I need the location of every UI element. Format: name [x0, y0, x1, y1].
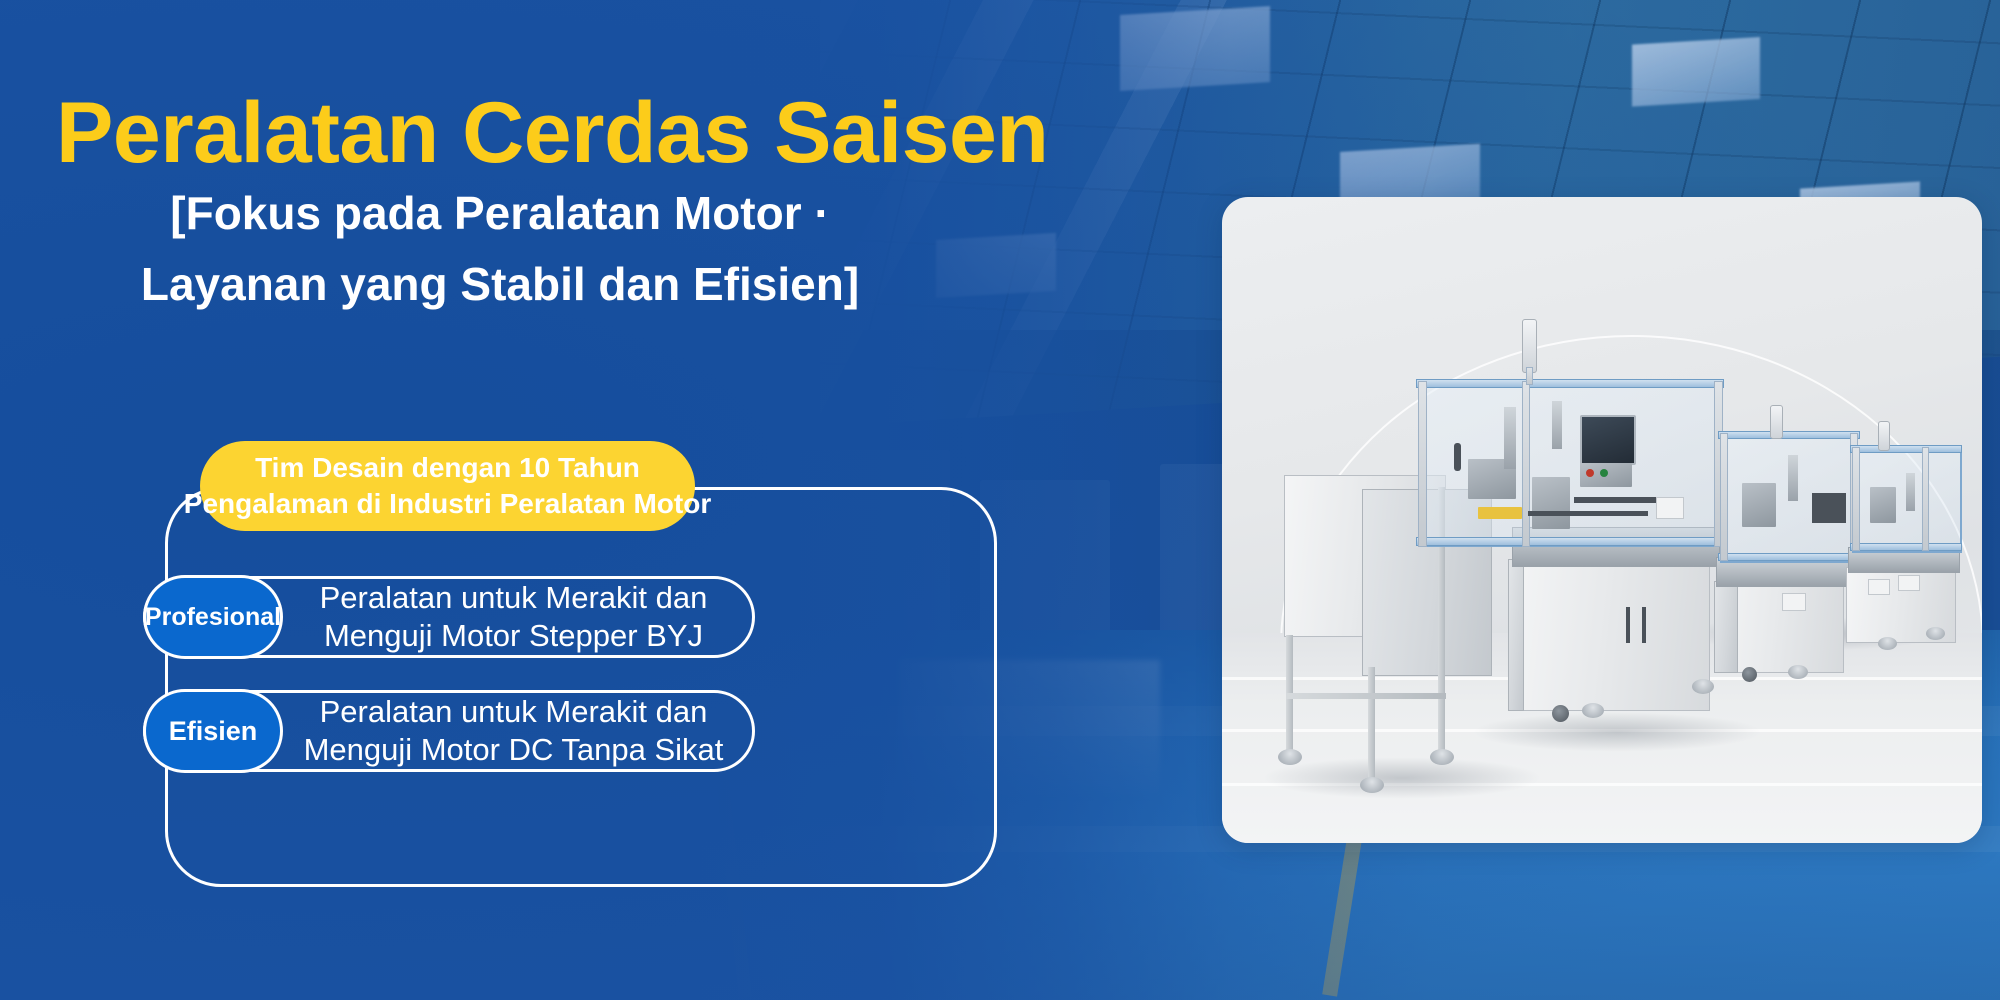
station1-post: [1418, 381, 1427, 547]
feature-text-line-1: Peralatan untuk Merakit dan: [289, 693, 738, 731]
leveling-foot: [1788, 665, 1808, 679]
pneumatic-cylinder: [1788, 455, 1798, 501]
internal-module: [1742, 483, 1776, 527]
cabinet-handle: [1642, 607, 1646, 643]
feature-text-professional: Peralatan untuk Merakit dan Menguji Moto…: [283, 579, 752, 655]
internal-module: [1870, 487, 1896, 523]
experience-badge: Tim Desain dengan 10 Tahun Pengalaman di…: [200, 441, 695, 531]
page-title: Peralatan Cerdas Saisen: [56, 88, 1056, 179]
leveling-foot: [1582, 703, 1604, 718]
subtitle-line-2: Layanan yang Stabil dan Efisien]: [60, 249, 940, 320]
leveling-foot: [1878, 637, 1897, 650]
station3-top-rail: [1850, 445, 1962, 453]
feature-row-professional[interactable]: Profesional Peralatan untuk Merakit dan …: [143, 576, 755, 658]
signal-beacon: [1770, 405, 1783, 439]
feature-text-line-2: Menguji Motor Stepper BYJ: [289, 617, 738, 655]
station1-bottom-rail: [1416, 537, 1724, 546]
station3-post: [1852, 447, 1860, 551]
copy-column: Peralatan Cerdas Saisen [Fokus pada Pera…: [0, 0, 1080, 1000]
leveling-foot: [1430, 749, 1454, 765]
station1-top-rail: [1416, 379, 1724, 388]
feature-text-line-1: Peralatan untuk Merakit dan: [289, 579, 738, 617]
cabinet-handle: [1626, 607, 1630, 643]
station1-post: [1522, 381, 1530, 547]
feature-tag-efficient: Efisien: [143, 689, 283, 773]
spec-label: [1898, 575, 1920, 591]
guard-door-handle: [1454, 443, 1461, 471]
station2-bottom-rail: [1718, 553, 1860, 561]
station3-bottom-rail: [1850, 543, 1962, 551]
air-hose: [1528, 511, 1648, 516]
internal-module-dark: [1812, 493, 1846, 523]
feature-card: [165, 487, 997, 887]
pneumatic-cylinder: [1504, 407, 1516, 469]
caster-wheel: [1552, 705, 1569, 722]
signal-beacon: [1878, 421, 1890, 451]
caster-wheel: [1742, 667, 1757, 682]
machine-shadow: [1472, 712, 1762, 752]
station2-top-rail: [1718, 431, 1860, 439]
leveling-foot: [1278, 749, 1302, 765]
product-image-panel: [1222, 197, 1982, 843]
machine-shadow: [1262, 757, 1542, 799]
station1-base-cabinet: [1508, 559, 1710, 711]
feature-row-efficient[interactable]: Efisien Peralatan untuk Merakit dan Meng…: [143, 690, 755, 772]
experience-badge-line-2: Pengalaman di Industri Peralatan Motor: [184, 486, 711, 522]
internal-module: [1532, 477, 1570, 529]
station3-post: [1922, 447, 1929, 551]
station2-post: [1720, 433, 1728, 561]
feature-text-line-2: Menguji Motor DC Tanpa Sikat: [289, 731, 738, 769]
beacon-mast: [1526, 367, 1533, 385]
hmi-display: [1580, 415, 1636, 465]
spec-label: [1656, 497, 1684, 519]
leveling-foot: [1360, 777, 1384, 793]
indicator-light-green: [1600, 469, 1608, 477]
trolley-crossbar: [1286, 693, 1446, 699]
subtitle: [Fokus pada Peralatan Motor · Layanan ya…: [60, 178, 940, 321]
indicator-light-red: [1586, 469, 1594, 477]
pneumatic-cylinder: [1906, 473, 1915, 511]
warning-label: [1478, 507, 1522, 519]
spec-label: [1782, 593, 1806, 611]
station1-vent: [1508, 559, 1524, 711]
leveling-foot: [1926, 627, 1945, 640]
assembly-line-machine: [1222, 197, 1982, 843]
experience-badge-line-1: Tim Desain dengan 10 Tahun: [255, 450, 640, 486]
pneumatic-cylinder: [1552, 401, 1562, 449]
signal-beacon: [1522, 319, 1537, 373]
trolley-leg: [1368, 667, 1375, 783]
feature-text-efficient: Peralatan untuk Merakit dan Menguji Moto…: [283, 693, 752, 769]
station2-vent: [1714, 581, 1738, 673]
promo-banner: Peralatan Cerdas Saisen [Fokus pada Pera…: [0, 0, 2000, 1000]
spec-label: [1868, 579, 1890, 595]
station1-guard-glass: [1418, 383, 1722, 547]
subtitle-line-1: [Fokus pada Peralatan Motor ·: [60, 178, 940, 249]
feature-tag-professional: Profesional: [143, 575, 283, 659]
leveling-foot: [1692, 679, 1714, 694]
